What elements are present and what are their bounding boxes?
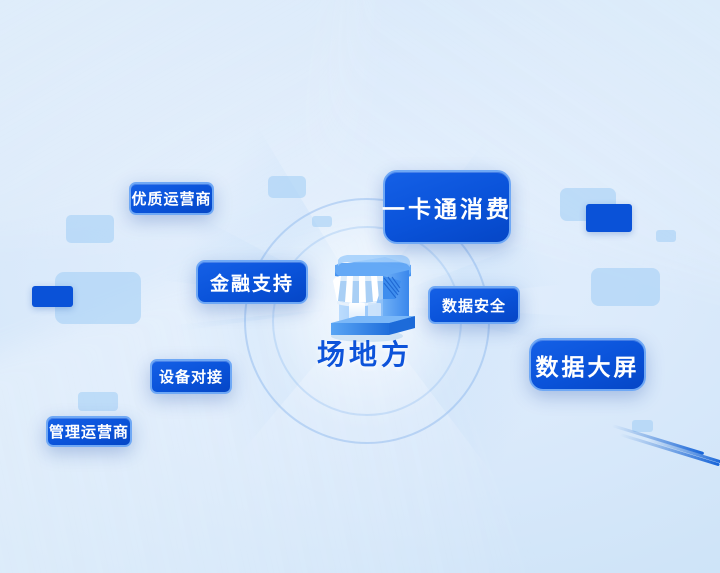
node-manage-operator[interactable]: 管理运营商	[46, 416, 132, 447]
node-financial-support-label: 金融支持	[210, 269, 294, 296]
center-title: 场地方	[285, 333, 445, 373]
node-financial-support[interactable]: 金融支持	[196, 260, 308, 304]
node-premium-operator[interactable]: 优质运营商	[129, 182, 214, 215]
node-manage-operator-label: 管理运营商	[49, 421, 129, 442]
deco-solid-left	[32, 286, 73, 307]
deco-rect-bottom-right	[632, 420, 653, 432]
deco-rect-left-small	[66, 215, 114, 243]
streak-lower	[648, 438, 720, 464]
deco-rect-mid-small	[312, 216, 332, 227]
node-data-screen-label: 数据大屏	[536, 348, 640, 382]
deco-rect-left-large	[55, 272, 141, 324]
node-device-docking-label: 设备对接	[159, 366, 223, 387]
node-premium-operator-label: 优质运营商	[131, 188, 211, 209]
node-data-screen[interactable]: 数据大屏	[529, 338, 646, 391]
deco-solid-right	[586, 204, 632, 232]
node-allinone-card-label: 一卡通消费	[382, 190, 512, 224]
streak-upper	[612, 424, 705, 455]
infographic-stage: 场地方 优质运营商金融支持一卡通消费数据安全数据大屏设备对接管理运营商	[0, 0, 720, 573]
deco-rect-right-large	[591, 268, 660, 306]
deco-rect-right-dot	[656, 230, 676, 242]
deco-rect-right-upper	[560, 188, 616, 221]
background-wash-bottom-left	[0, 199, 536, 573]
storefront-icon	[311, 243, 419, 343]
node-allinone-card[interactable]: 一卡通消费	[383, 170, 511, 244]
node-device-docking[interactable]: 设备对接	[150, 359, 232, 394]
streak-mid	[620, 433, 720, 466]
deco-rect-left-lower	[78, 392, 118, 411]
deco-rect-mid-top	[268, 176, 306, 198]
node-data-security-label: 数据安全	[442, 295, 506, 316]
node-data-security[interactable]: 数据安全	[428, 286, 520, 324]
